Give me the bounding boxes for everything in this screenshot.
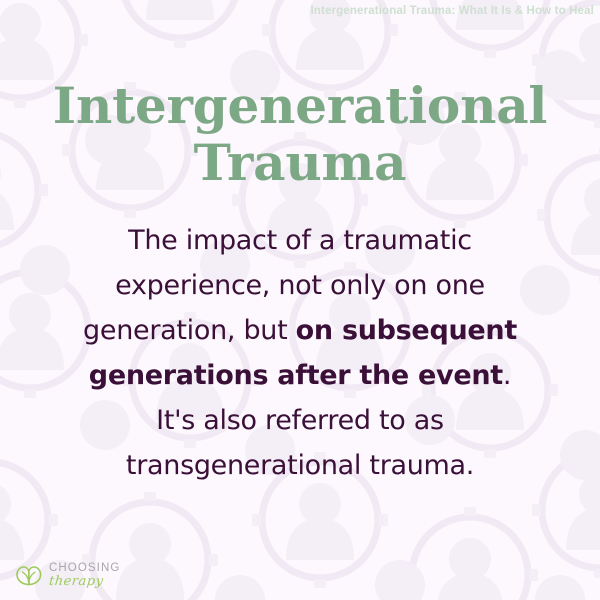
page-title-line-1: Intergenerational [53,76,547,135]
page-title: IntergenerationalTrauma [0,78,600,191]
slide-canvas: Intergenerational Trauma: What It Is & H… [0,0,600,600]
body-line: experience, not only on one [36,263,564,308]
brand-logo: CHOOSING therapy [14,563,120,589]
page-title-line-2: Trauma [194,133,407,192]
body-text-plain: It's also referred to as [156,405,444,436]
logo-word-choosing: CHOOSING [49,563,120,575]
body-text-emphasis: on subsequent [296,315,517,346]
body-line: generation, but on subsequent [36,308,564,353]
body-copy: The impact of a traumatic experience, no… [0,218,600,488]
body-line: It's also referred to as [36,398,564,443]
body-text-emphasis: generations after the event [89,360,503,391]
body-text-plain: The impact of a traumatic [128,225,472,256]
header-bar: Intergenerational Trauma: What It Is & H… [0,0,600,22]
leaf-logo-icon [14,563,44,587]
logo-wordmark: CHOOSING therapy [49,563,120,589]
logo-word-therapy: therapy [48,575,121,588]
body-line: transgenerational trauma. [36,443,564,488]
body-line: generations after the event. [36,353,564,398]
title-block: IntergenerationalTrauma [0,78,600,191]
header-article-title: Intergenerational Trauma: What It Is & H… [310,5,594,17]
body-line: The impact of a traumatic [36,218,564,263]
body-text-tail: . [503,360,511,391]
body-text-plain: generation, but [83,315,296,346]
body-text-plain: transgenerational trauma. [126,450,474,481]
body-text-plain: experience, not only on one [115,270,485,301]
